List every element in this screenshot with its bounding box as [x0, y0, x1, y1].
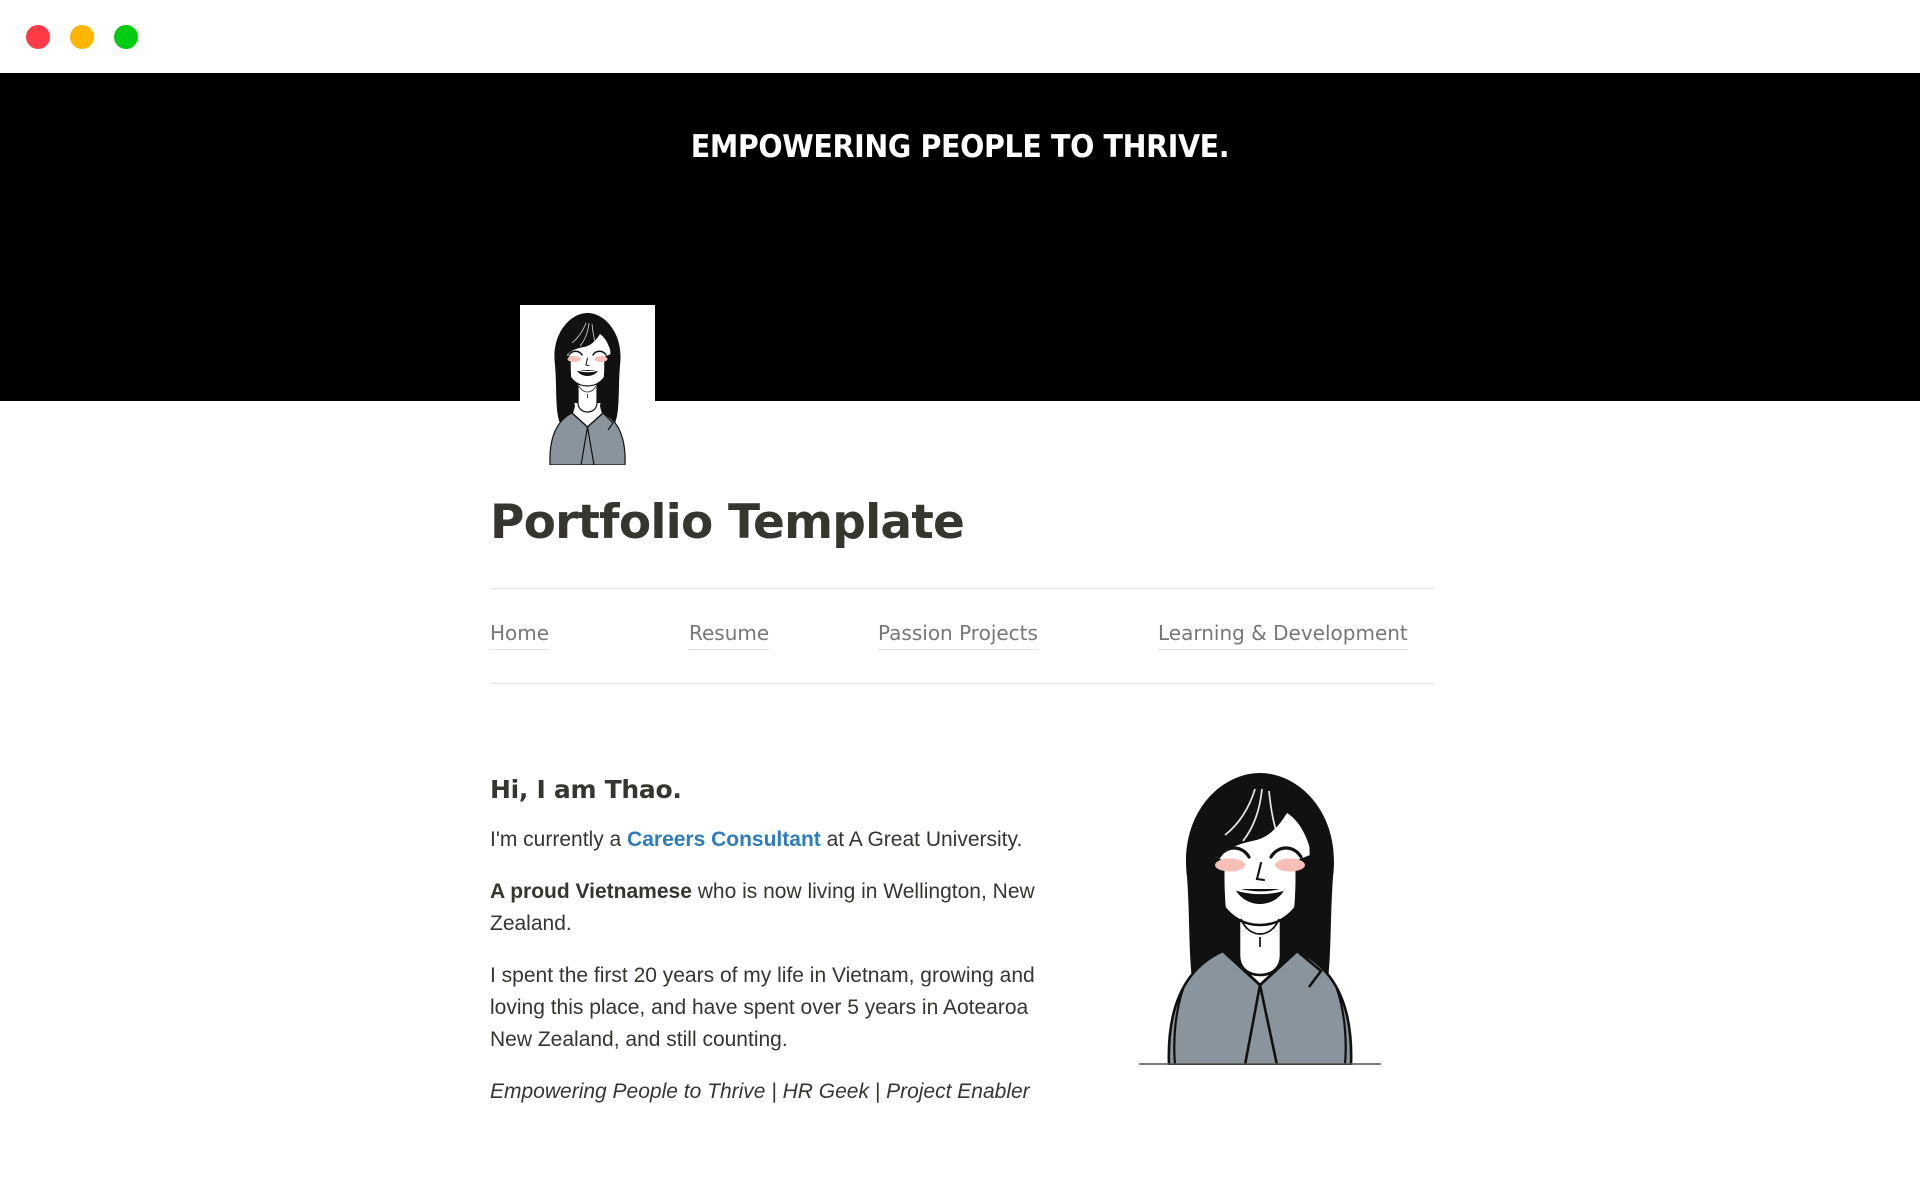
browser-chrome — [0, 0, 1920, 73]
hero-tagline: EMPOWERING PEOPLE TO THRIVE. — [77, 129, 1843, 165]
intro-origin-bold: A proud Vietnamese — [490, 880, 692, 903]
divider-below-nav — [490, 683, 1435, 684]
hero-portrait-illustration — [1125, 765, 1395, 1065]
intro-role-prefix: I'm currently a — [490, 828, 627, 851]
minimize-window-button[interactable] — [70, 25, 94, 49]
intro-role-suffix: at A Great University. — [821, 828, 1023, 851]
intro-paragraph-history: I spent the first 20 years of my life in… — [490, 960, 1050, 1056]
intro-paragraph-role: I'm currently a Careers Consultant at A … — [490, 824, 1050, 856]
window-controls — [0, 25, 138, 49]
page-title: Portfolio Template — [490, 495, 964, 550]
nav-item-learning-development[interactable]: Learning & Development — [1158, 622, 1408, 650]
nav-item-resume[interactable]: Resume — [689, 622, 769, 650]
divider-above-nav — [490, 588, 1435, 589]
nav-item-home[interactable]: Home — [490, 622, 549, 650]
careers-consultant-link[interactable]: Careers Consultant — [627, 828, 821, 851]
nav-item-passion-projects[interactable]: Passion Projects — [878, 622, 1038, 650]
close-window-button[interactable] — [26, 25, 50, 49]
avatar — [520, 305, 655, 465]
avatar-portrait-illustration — [520, 305, 655, 465]
intro-paragraph-origin: A proud Vietnamese who is now living in … — [490, 876, 1050, 940]
intro-heading: Hi, I am Thao. — [490, 775, 1050, 804]
intro-paragraph-motto: Empowering People to Thrive | HR Geek | … — [490, 1076, 1050, 1108]
hero-banner — [0, 73, 1920, 401]
main-nav: Home Resume Passion Projects Learning & … — [490, 622, 1435, 658]
intro-section: Hi, I am Thao. I'm currently a Careers C… — [490, 775, 1050, 1108]
maximize-window-button[interactable] — [114, 25, 138, 49]
